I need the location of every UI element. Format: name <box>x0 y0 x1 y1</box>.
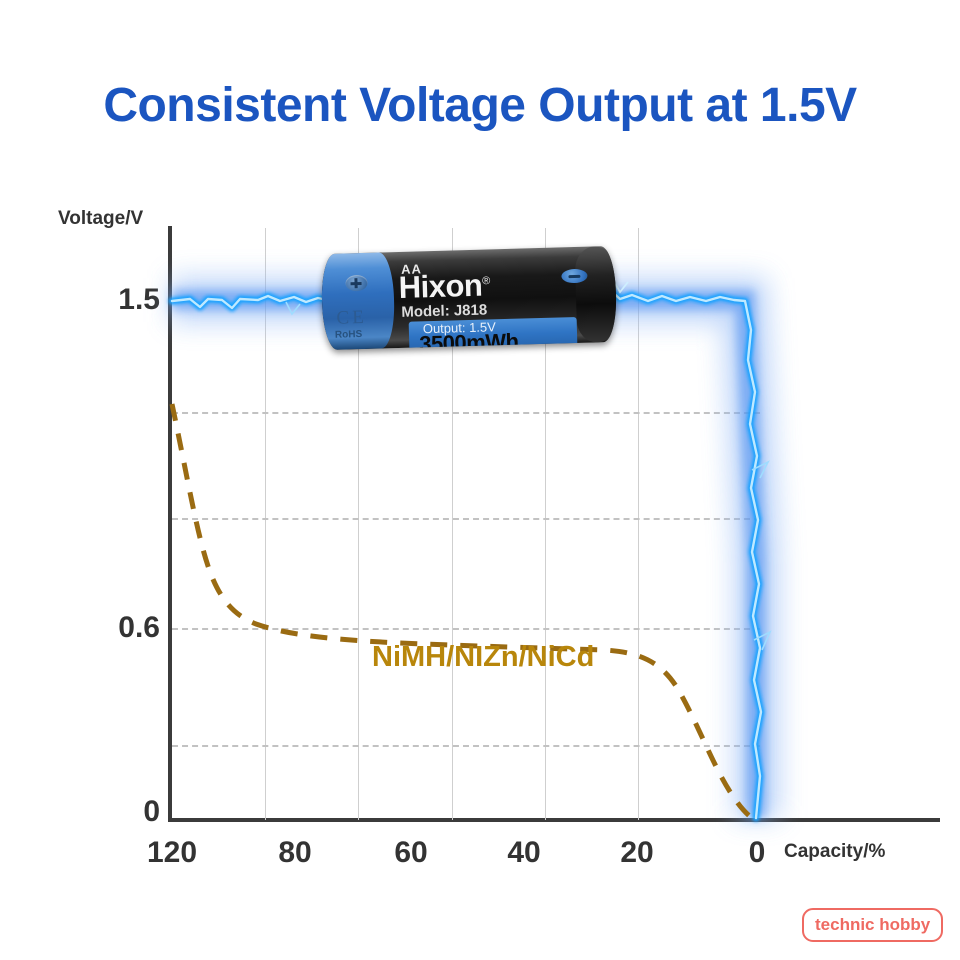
rohs-mark-label: RoHS <box>335 329 363 341</box>
battery-negative-end <box>575 246 618 343</box>
battery-body: CE RoHS AA Hixon® Model: J818 Output: 1.… <box>321 246 618 350</box>
lightning-core <box>172 278 770 818</box>
brand-text: Hixon <box>398 268 483 305</box>
figure-canvas: Consistent Voltage Output at 1.5V Voltag… <box>0 0 960 960</box>
battery-model-label: Model: J818 <box>401 301 487 320</box>
nimh-series-label: NiMH/NIZn/NiCd <box>372 641 594 674</box>
trademark-symbol: ® <box>482 275 490 287</box>
lightning-glow-layer <box>172 300 757 818</box>
ce-mark-icon: CE <box>336 307 367 330</box>
chart-curves <box>0 0 960 960</box>
nimh-curve <box>172 404 752 818</box>
battery-illustration: CE RoHS AA Hixon® Model: J818 Output: 1.… <box>321 246 618 350</box>
watermark-badge: technic hobby <box>802 908 943 942</box>
battery-brand-label: Hixon® <box>398 267 490 306</box>
